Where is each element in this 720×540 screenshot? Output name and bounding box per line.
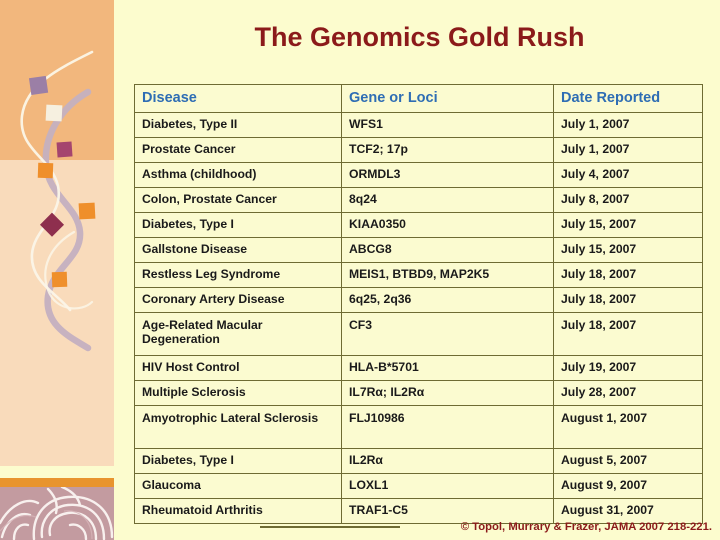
cell-disease: Restless Leg Syndrome xyxy=(135,263,342,288)
decor-square-magenta xyxy=(57,141,73,157)
decorative-sidebar xyxy=(0,0,114,540)
decor-square-cream xyxy=(46,105,63,122)
cell-gene: IL2Rα xyxy=(342,449,554,474)
cell-date: July 8, 2007 xyxy=(554,188,703,213)
cell-gene: 8q24 xyxy=(342,188,554,213)
fingerprint-pattern xyxy=(0,487,114,540)
cell-date: August 31, 2007 xyxy=(554,499,703,524)
cell-gene: KIAA0350 xyxy=(342,213,554,238)
cell-gene: CF3 xyxy=(342,313,554,356)
cell-disease: Diabetes, Type I xyxy=(135,449,342,474)
table-row: Colon, Prostate Cancer8q24July 8, 2007 xyxy=(135,188,703,213)
table-header: Disease Gene or Loci Date Reported xyxy=(135,85,703,113)
cell-gene: ABCG8 xyxy=(342,238,554,263)
decor-square-orange-2 xyxy=(79,203,96,220)
page-title: The Genomics Gold Rush xyxy=(119,22,720,53)
table-row: Asthma (childhood)ORMDL3July 4, 2007 xyxy=(135,163,703,188)
decor-diamond-maroon xyxy=(40,213,64,237)
cell-date: July 15, 2007 xyxy=(554,213,703,238)
cell-disease: Coronary Artery Disease xyxy=(135,288,342,313)
cell-gene: LOXL1 xyxy=(342,474,554,499)
table-row: Diabetes, Type IKIAA0350July 15, 2007 xyxy=(135,213,703,238)
cell-disease: Diabetes, Type II xyxy=(135,113,342,138)
cell-disease: Asthma (childhood) xyxy=(135,163,342,188)
table-header-row: Disease Gene or Loci Date Reported xyxy=(135,85,703,113)
table-row: Diabetes, Type IIWFS1July 1, 2007 xyxy=(135,113,703,138)
cell-gene: FLJ10986 xyxy=(342,406,554,449)
genomics-table-container: Disease Gene or Loci Date Reported Diabe… xyxy=(134,84,702,524)
sidebar-ribbon-graphic xyxy=(0,0,114,480)
table-row: HIV Host ControlHLA-B*5701July 19, 2007 xyxy=(135,356,703,381)
cell-date: July 4, 2007 xyxy=(554,163,703,188)
table-row: Age-Related Macular DegenerationCF3July … xyxy=(135,313,703,356)
table-row: Restless Leg SyndromeMEIS1, BTBD9, MAP2K… xyxy=(135,263,703,288)
genomics-discoveries-table: Disease Gene or Loci Date Reported Diabe… xyxy=(134,84,703,524)
cell-date: July 1, 2007 xyxy=(554,113,703,138)
table-row: Gallstone DiseaseABCG8July 15, 2007 xyxy=(135,238,703,263)
table-row: Prostate CancerTCF2; 17pJuly 1, 2007 xyxy=(135,138,703,163)
cell-gene: 6q25, 2q36 xyxy=(342,288,554,313)
cell-gene: TCF2; 17p xyxy=(342,138,554,163)
cell-date: August 9, 2007 xyxy=(554,474,703,499)
cell-gene: HLA-B*5701 xyxy=(342,356,554,381)
cell-disease: Diabetes, Type I xyxy=(135,213,342,238)
source-citation: © Topol, Murrary & Frazer, JAMA 2007 218… xyxy=(330,521,712,533)
sidebar-divider-bar xyxy=(0,478,114,487)
cell-disease: Multiple Sclerosis xyxy=(135,381,342,406)
cell-date: July 18, 2007 xyxy=(554,263,703,288)
cell-disease: Colon, Prostate Cancer xyxy=(135,188,342,213)
column-header-gene: Gene or Loci xyxy=(342,85,554,113)
cell-gene: ORMDL3 xyxy=(342,163,554,188)
table-row: Multiple SclerosisIL7Rα; IL2RαJuly 28, 2… xyxy=(135,381,703,406)
cell-date: July 18, 2007 xyxy=(554,288,703,313)
cell-disease: HIV Host Control xyxy=(135,356,342,381)
cell-date: August 5, 2007 xyxy=(554,449,703,474)
table-row: GlaucomaLOXL1August 9, 2007 xyxy=(135,474,703,499)
decor-square-purple xyxy=(29,76,48,95)
table-row: Amyotrophic Lateral SclerosisFLJ10986Aug… xyxy=(135,406,703,449)
cell-gene: IL7Rα; IL2Rα xyxy=(342,381,554,406)
fingerprint-swirl-icon xyxy=(0,487,114,540)
cell-date: July 1, 2007 xyxy=(554,138,703,163)
cell-disease: Prostate Cancer xyxy=(135,138,342,163)
cell-date: July 15, 2007 xyxy=(554,238,703,263)
cell-disease: Glaucoma xyxy=(135,474,342,499)
cell-disease: Age-Related Macular Degeneration xyxy=(135,313,342,356)
cell-disease: Gallstone Disease xyxy=(135,238,342,263)
slide-canvas: The Genomics Gold Rush Disease Gene or L… xyxy=(0,0,720,540)
cell-date: July 18, 2007 xyxy=(554,313,703,356)
decor-square-orange-3 xyxy=(52,272,68,288)
decor-square-orange-1 xyxy=(38,163,54,179)
cell-date: July 19, 2007 xyxy=(554,356,703,381)
cell-disease: Amyotrophic Lateral Sclerosis xyxy=(135,406,342,449)
cell-gene: TRAF1-C5 xyxy=(342,499,554,524)
cell-gene: WFS1 xyxy=(342,113,554,138)
cell-gene: MEIS1, BTBD9, MAP2K5 xyxy=(342,263,554,288)
table-row: Rheumatoid ArthritisTRAF1-C5August 31, 2… xyxy=(135,499,703,524)
cell-date: July 28, 2007 xyxy=(554,381,703,406)
cell-disease: Rheumatoid Arthritis xyxy=(135,499,342,524)
column-header-disease: Disease xyxy=(135,85,342,113)
column-header-date: Date Reported xyxy=(554,85,703,113)
table-body: Diabetes, Type IIWFS1July 1, 2007Prostat… xyxy=(135,113,703,524)
cell-date: August 1, 2007 xyxy=(554,406,703,449)
table-row: Coronary Artery Disease6q25, 2q36July 18… xyxy=(135,288,703,313)
table-row: Diabetes, Type IIL2RαAugust 5, 2007 xyxy=(135,449,703,474)
